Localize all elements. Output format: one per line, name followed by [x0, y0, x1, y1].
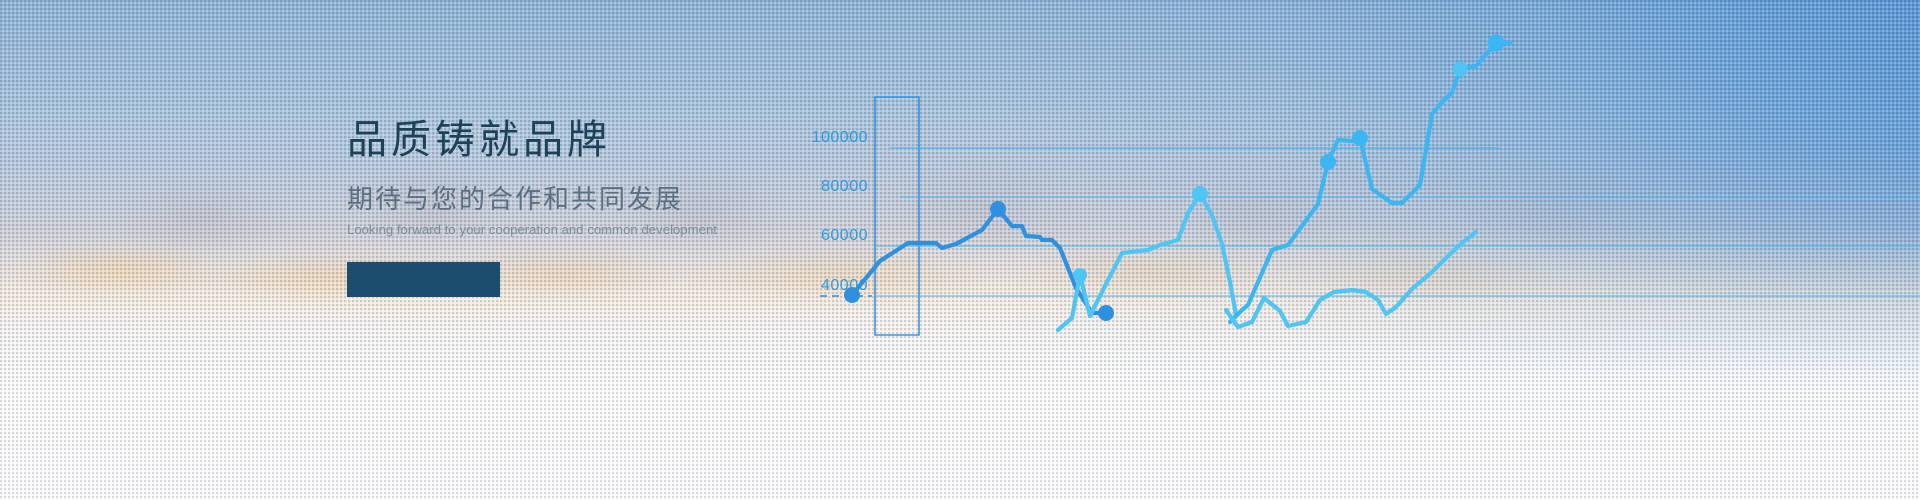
gridlines	[820, 148, 1920, 296]
series-a-marker-end	[1098, 305, 1114, 321]
series-c-line	[1230, 43, 1510, 322]
highlight-band	[875, 97, 919, 335]
y-tick-80000: 80000	[821, 178, 868, 195]
series-c-marker-2	[1352, 130, 1368, 146]
series-b-marker-mid	[1073, 268, 1087, 282]
y-tick-100000: 100000	[812, 129, 868, 146]
series-c-marker-3	[1453, 62, 1468, 77]
line-chart: 100000 80000 60000 40000	[760, 0, 1920, 500]
series-a-marker-peak	[990, 201, 1006, 217]
series-a-line	[852, 209, 1106, 313]
series-c-marker-1	[1320, 154, 1336, 170]
y-tick-60000: 60000	[821, 227, 868, 244]
y-axis-tick-labels: 100000 80000 60000 40000	[812, 129, 868, 294]
learn-more-button[interactable]	[347, 262, 500, 297]
series-b-marker-peak	[1192, 186, 1208, 202]
series-c-marker-4	[1488, 35, 1505, 52]
series-b-line	[1058, 194, 1236, 330]
series-a-marker-start	[844, 287, 860, 303]
hero-banner: 品质铸就品牌 期待与您的合作和共同发展 Looking forward to y…	[0, 0, 1920, 500]
chart-svg: 100000 80000 60000 40000	[760, 0, 1920, 500]
